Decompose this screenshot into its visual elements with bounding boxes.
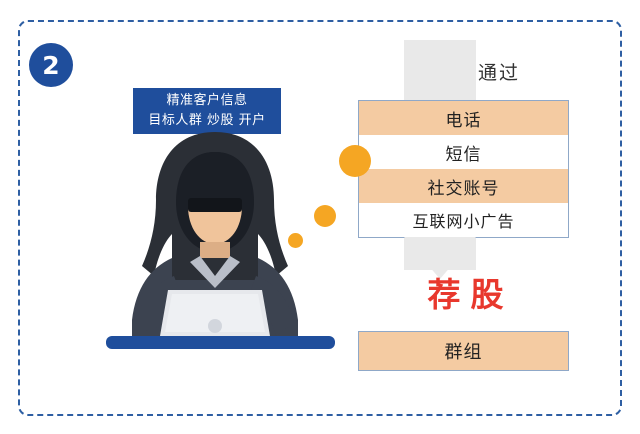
step-number-badge: 2 bbox=[29, 43, 73, 87]
target-info-line-1: 精准客户信息 bbox=[166, 91, 247, 111]
channel-row: 电话 bbox=[359, 101, 568, 135]
orange-dot-large bbox=[339, 145, 371, 177]
target-info-line-2: 目标人群 炒股 开户 bbox=[148, 111, 265, 131]
hacker-illustration bbox=[120, 130, 310, 345]
desk-bar bbox=[106, 336, 335, 349]
channel-list: 电话 短信 社交账号 互联网小广告 bbox=[358, 100, 569, 238]
through-label: 通过 bbox=[404, 58, 594, 85]
orange-dot-medium bbox=[314, 205, 336, 227]
channel-row: 社交账号 bbox=[359, 169, 568, 203]
recommend-stock-text: 荐股 bbox=[378, 268, 553, 316]
hacker-svg bbox=[120, 130, 310, 345]
channel-row: 互联网小广告 bbox=[359, 203, 568, 237]
channel-row: 短信 bbox=[359, 135, 568, 169]
group-box: 群组 bbox=[358, 331, 569, 371]
target-info-box: 精准客户信息 目标人群 炒股 开户 bbox=[133, 88, 281, 134]
diagram-canvas: 2 通过 精准客户信息 目标人群 炒股 开户 电话 短信 社交账号 互联网小广告… bbox=[0, 0, 640, 434]
